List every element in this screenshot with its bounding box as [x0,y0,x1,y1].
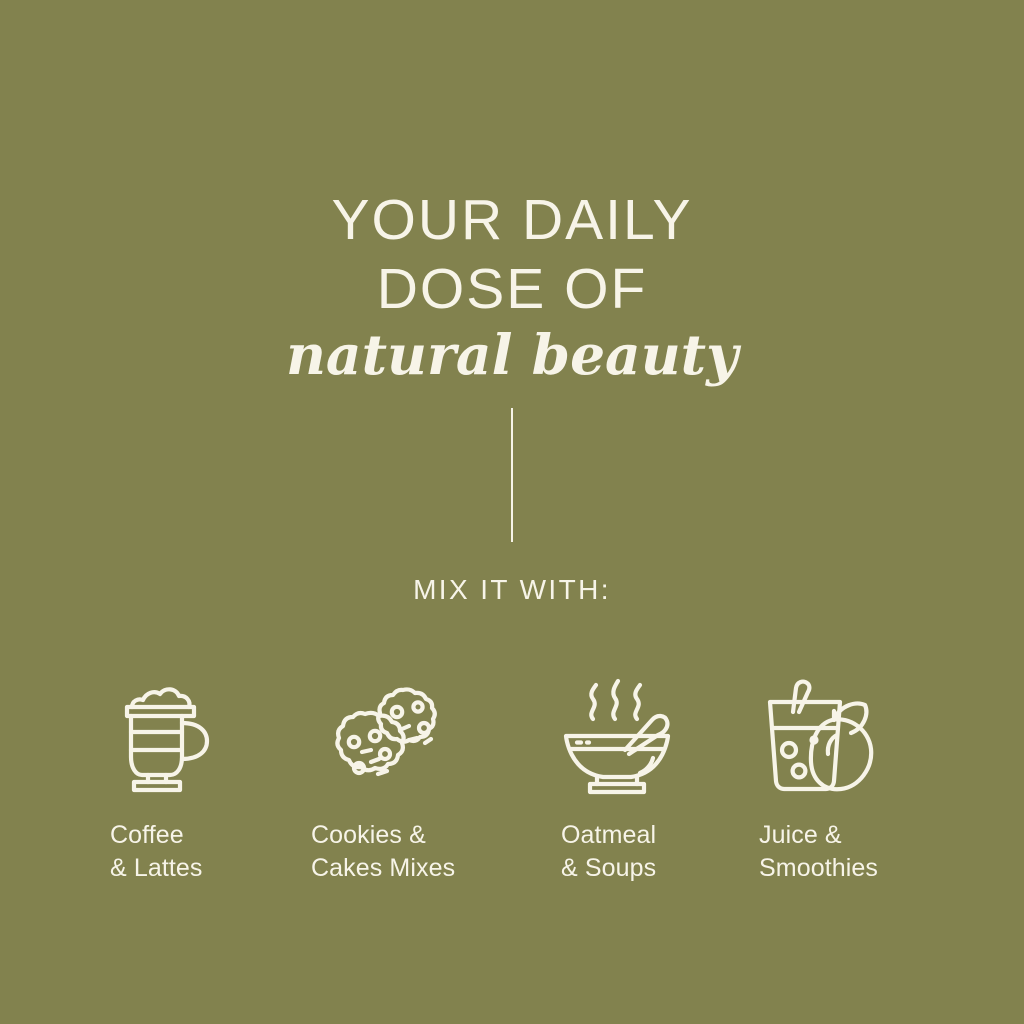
headline-block: YOUR DAILY DOSE OF natural beauty [0,192,1024,388]
cookies-icon [329,676,449,794]
label-line-1: Juice & [759,819,878,852]
label-line-2: Cakes Mixes [311,852,455,885]
vertical-divider [511,408,513,542]
headline-line-2: DOSE OF [0,261,1024,318]
mix-item-oatmeal: Oatmeal & Soups [561,676,776,906]
label-line-1: Coffee [110,819,203,852]
label-line-2: & Lattes [110,852,203,885]
mix-item-coffee: Coffee & Lattes [110,676,325,906]
soup-bowl-icon [557,676,677,794]
mix-item-label-juice: Juice & Smoothies [759,819,878,885]
mix-item-label-coffee: Coffee & Lattes [110,819,203,885]
poster-canvas: YOUR DAILY DOSE OF natural beauty MIX IT… [0,0,1024,1024]
mix-item-juice: Juice & Smoothies [759,676,974,906]
mix-item-cookies: Cookies & Cakes Mixes [311,676,526,906]
mix-items-row: Coffee & Lattes [0,676,1024,906]
mix-it-with-heading: MIX IT WITH: [0,575,1024,605]
mix-item-label-cookies: Cookies & Cakes Mixes [311,819,455,885]
label-line-2: Smoothies [759,852,878,885]
headline-line-1: YOUR DAILY [0,192,1024,249]
headline-script-line: natural beauty [0,322,1024,388]
label-line-1: Oatmeal [561,819,656,852]
latte-glass-icon [110,676,230,794]
label-line-1: Cookies & [311,819,455,852]
label-line-2: & Soups [561,852,656,885]
mix-item-label-oatmeal: Oatmeal & Soups [561,819,656,885]
juice-glass-mango-icon [755,676,875,794]
